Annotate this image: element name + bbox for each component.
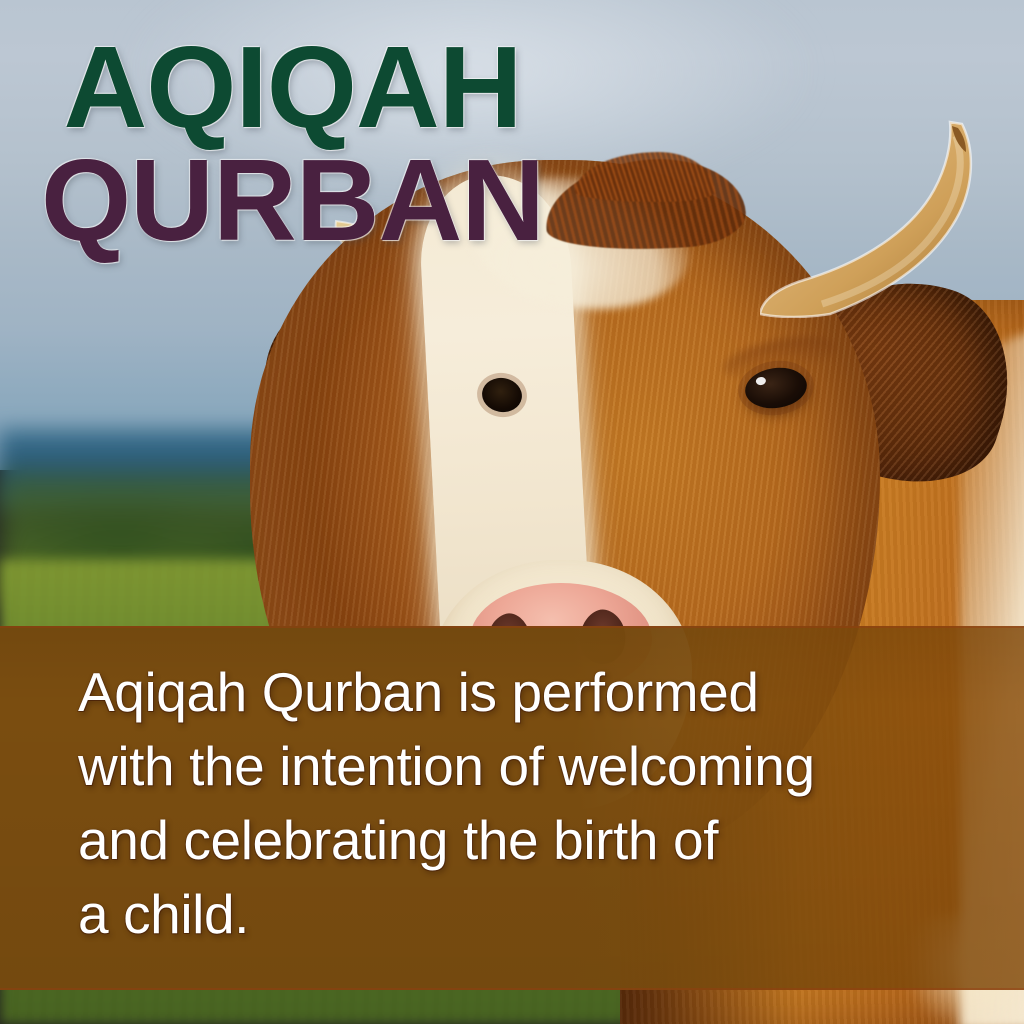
caption-band-top-edge <box>0 626 1024 628</box>
title-line-aqiqah: AQIQAH <box>0 34 585 141</box>
caption-line-2: with the intention of welcoming <box>78 729 978 803</box>
cow-right-horn <box>760 118 990 318</box>
cow-right-eye-glint <box>755 376 766 385</box>
poster-title: AQIQAH QURBAN <box>0 34 585 253</box>
caption-line-4: a child. <box>78 877 978 951</box>
poster-canvas: AQIQAH QURBAN Aqiqah Qurban is performed… <box>0 0 1024 1024</box>
caption-text: Aqiqah Qurban is performed with the inte… <box>78 655 978 951</box>
caption-line-1: Aqiqah Qurban is performed <box>78 655 978 729</box>
cow-forelock-tuft-top <box>575 152 715 202</box>
caption-line-3: and celebrating the birth of <box>78 803 978 877</box>
caption-band-bottom-edge <box>0 988 1024 990</box>
title-line-qurban: QURBAN <box>0 147 585 254</box>
